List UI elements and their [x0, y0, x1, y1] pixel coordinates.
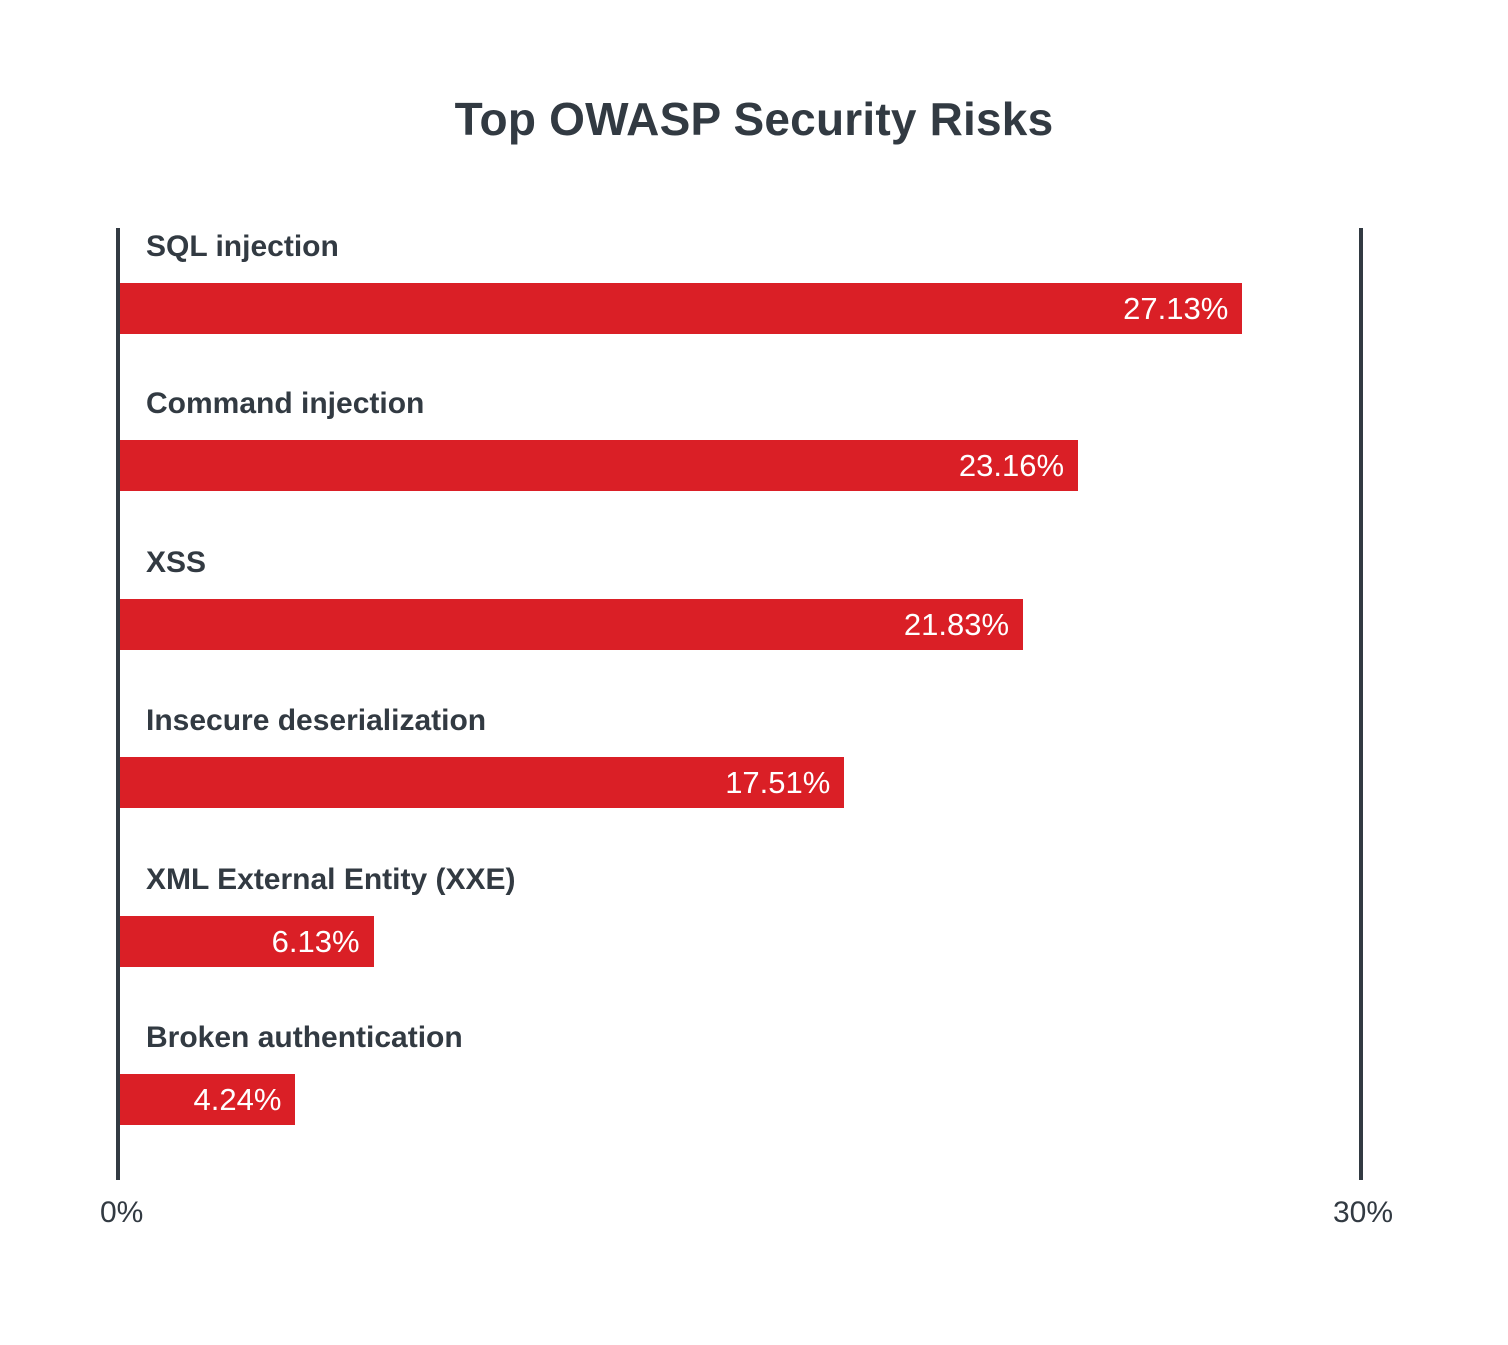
bar-value-label: 21.83%	[904, 599, 1009, 650]
bar-category-label: Broken authentication	[146, 1019, 463, 1057]
bar-value-label: 4.24%	[193, 1074, 281, 1125]
bar-insecure-deserialization: 17.51%	[120, 757, 844, 808]
x-axis-tick-min: 0%	[100, 1196, 143, 1230]
bar-category-label: XML External Entity (XXE)	[146, 861, 516, 899]
bar-value-label: 6.13%	[272, 916, 360, 967]
bar-sql-injection: 27.13%	[120, 283, 1242, 334]
bar-group: XSS 21.83%	[120, 544, 1361, 694]
bar-group: SQL injection 27.13%	[120, 228, 1361, 378]
bar-group: Command injection 23.16%	[120, 385, 1361, 535]
bar-command-injection: 23.16%	[120, 440, 1078, 491]
bar-category-label: SQL injection	[146, 228, 339, 266]
bar-category-label: Insecure deserialization	[146, 702, 486, 740]
bar-category-label: XSS	[146, 544, 206, 582]
bar-xss: 21.83%	[120, 599, 1023, 650]
bar-xml-external-entity: 6.13%	[120, 916, 374, 967]
plot-area: SQL injection 27.13% Command injection 2…	[120, 228, 1361, 1180]
bar-value-label: 23.16%	[959, 440, 1064, 491]
bar-group: Insecure deserialization 17.51%	[120, 702, 1361, 852]
bar-group: XML External Entity (XXE) 6.13%	[120, 861, 1361, 1011]
bar-category-label: Command injection	[146, 385, 424, 423]
bar-chart: Top OWASP Security Risks SQL injection 2…	[0, 0, 1508, 1345]
x-axis-tick-max: 30%	[1333, 1196, 1393, 1230]
bar-broken-authentication: 4.24%	[120, 1074, 295, 1125]
bar-value-label: 27.13%	[1123, 283, 1228, 334]
chart-title: Top OWASP Security Risks	[0, 92, 1508, 146]
bar-value-label: 17.51%	[725, 757, 830, 808]
bar-group: Broken authentication 4.24%	[120, 1019, 1361, 1169]
